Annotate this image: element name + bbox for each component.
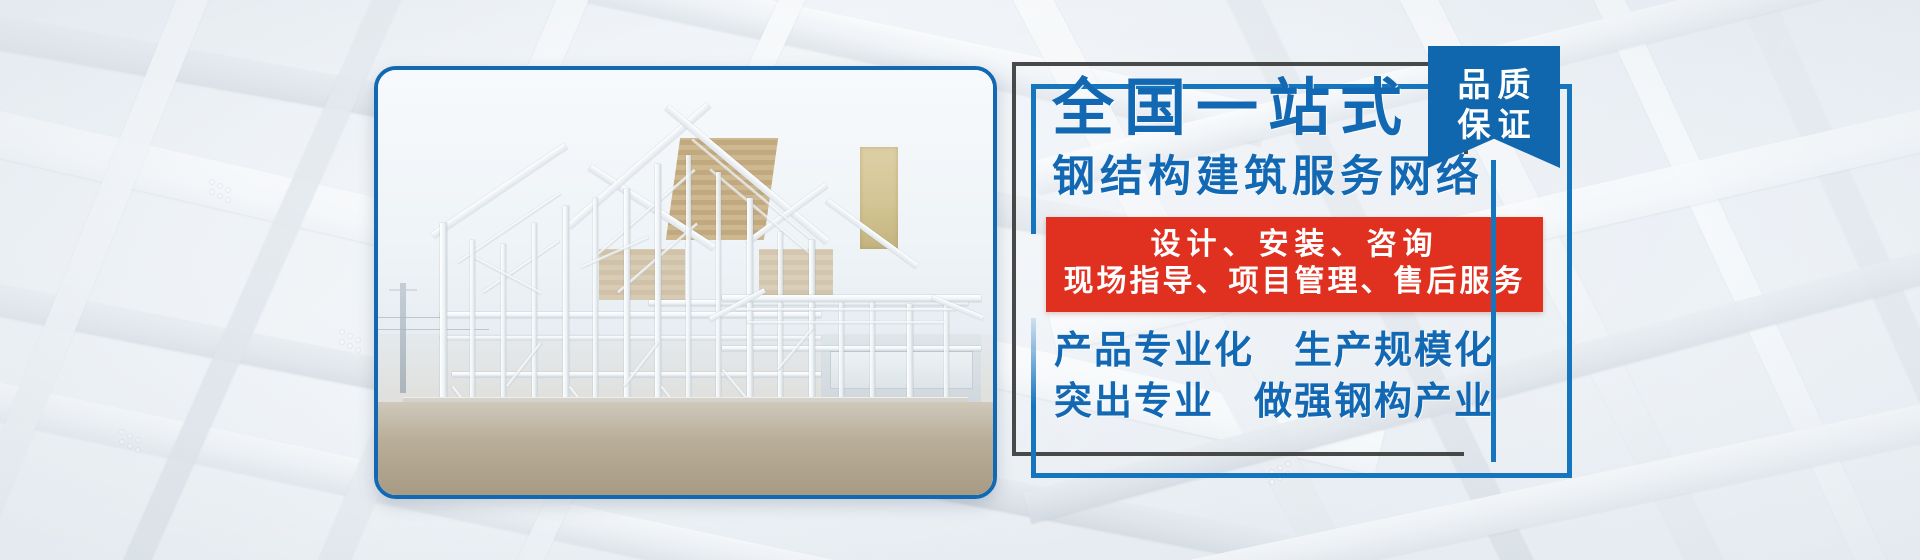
service-line-2: 现场指导、项目管理、售后服务 [1062,264,1527,301]
service-list-box: 设计、安装、咨询 现场指导、项目管理、售后服务 [1046,217,1543,312]
steel-structure-banner: 全国一站式 钢结构建筑服务网络 设计、安装、咨询 现场指导、项目管理、售后服务 … [0,0,1920,560]
subheadline: 钢结构建筑服务网络 [1052,156,1560,199]
construction-photo [378,70,993,495]
badge-stem-line [1491,160,1496,462]
service-line-1: 设计、安装、咨询 [1062,227,1527,264]
slogan-line-2: 突出专业 做强钢构产业 [1054,379,1560,425]
construction-photo-card [374,66,997,499]
slogan-line-1: 产品专业化 生产规模化 [1054,328,1560,374]
